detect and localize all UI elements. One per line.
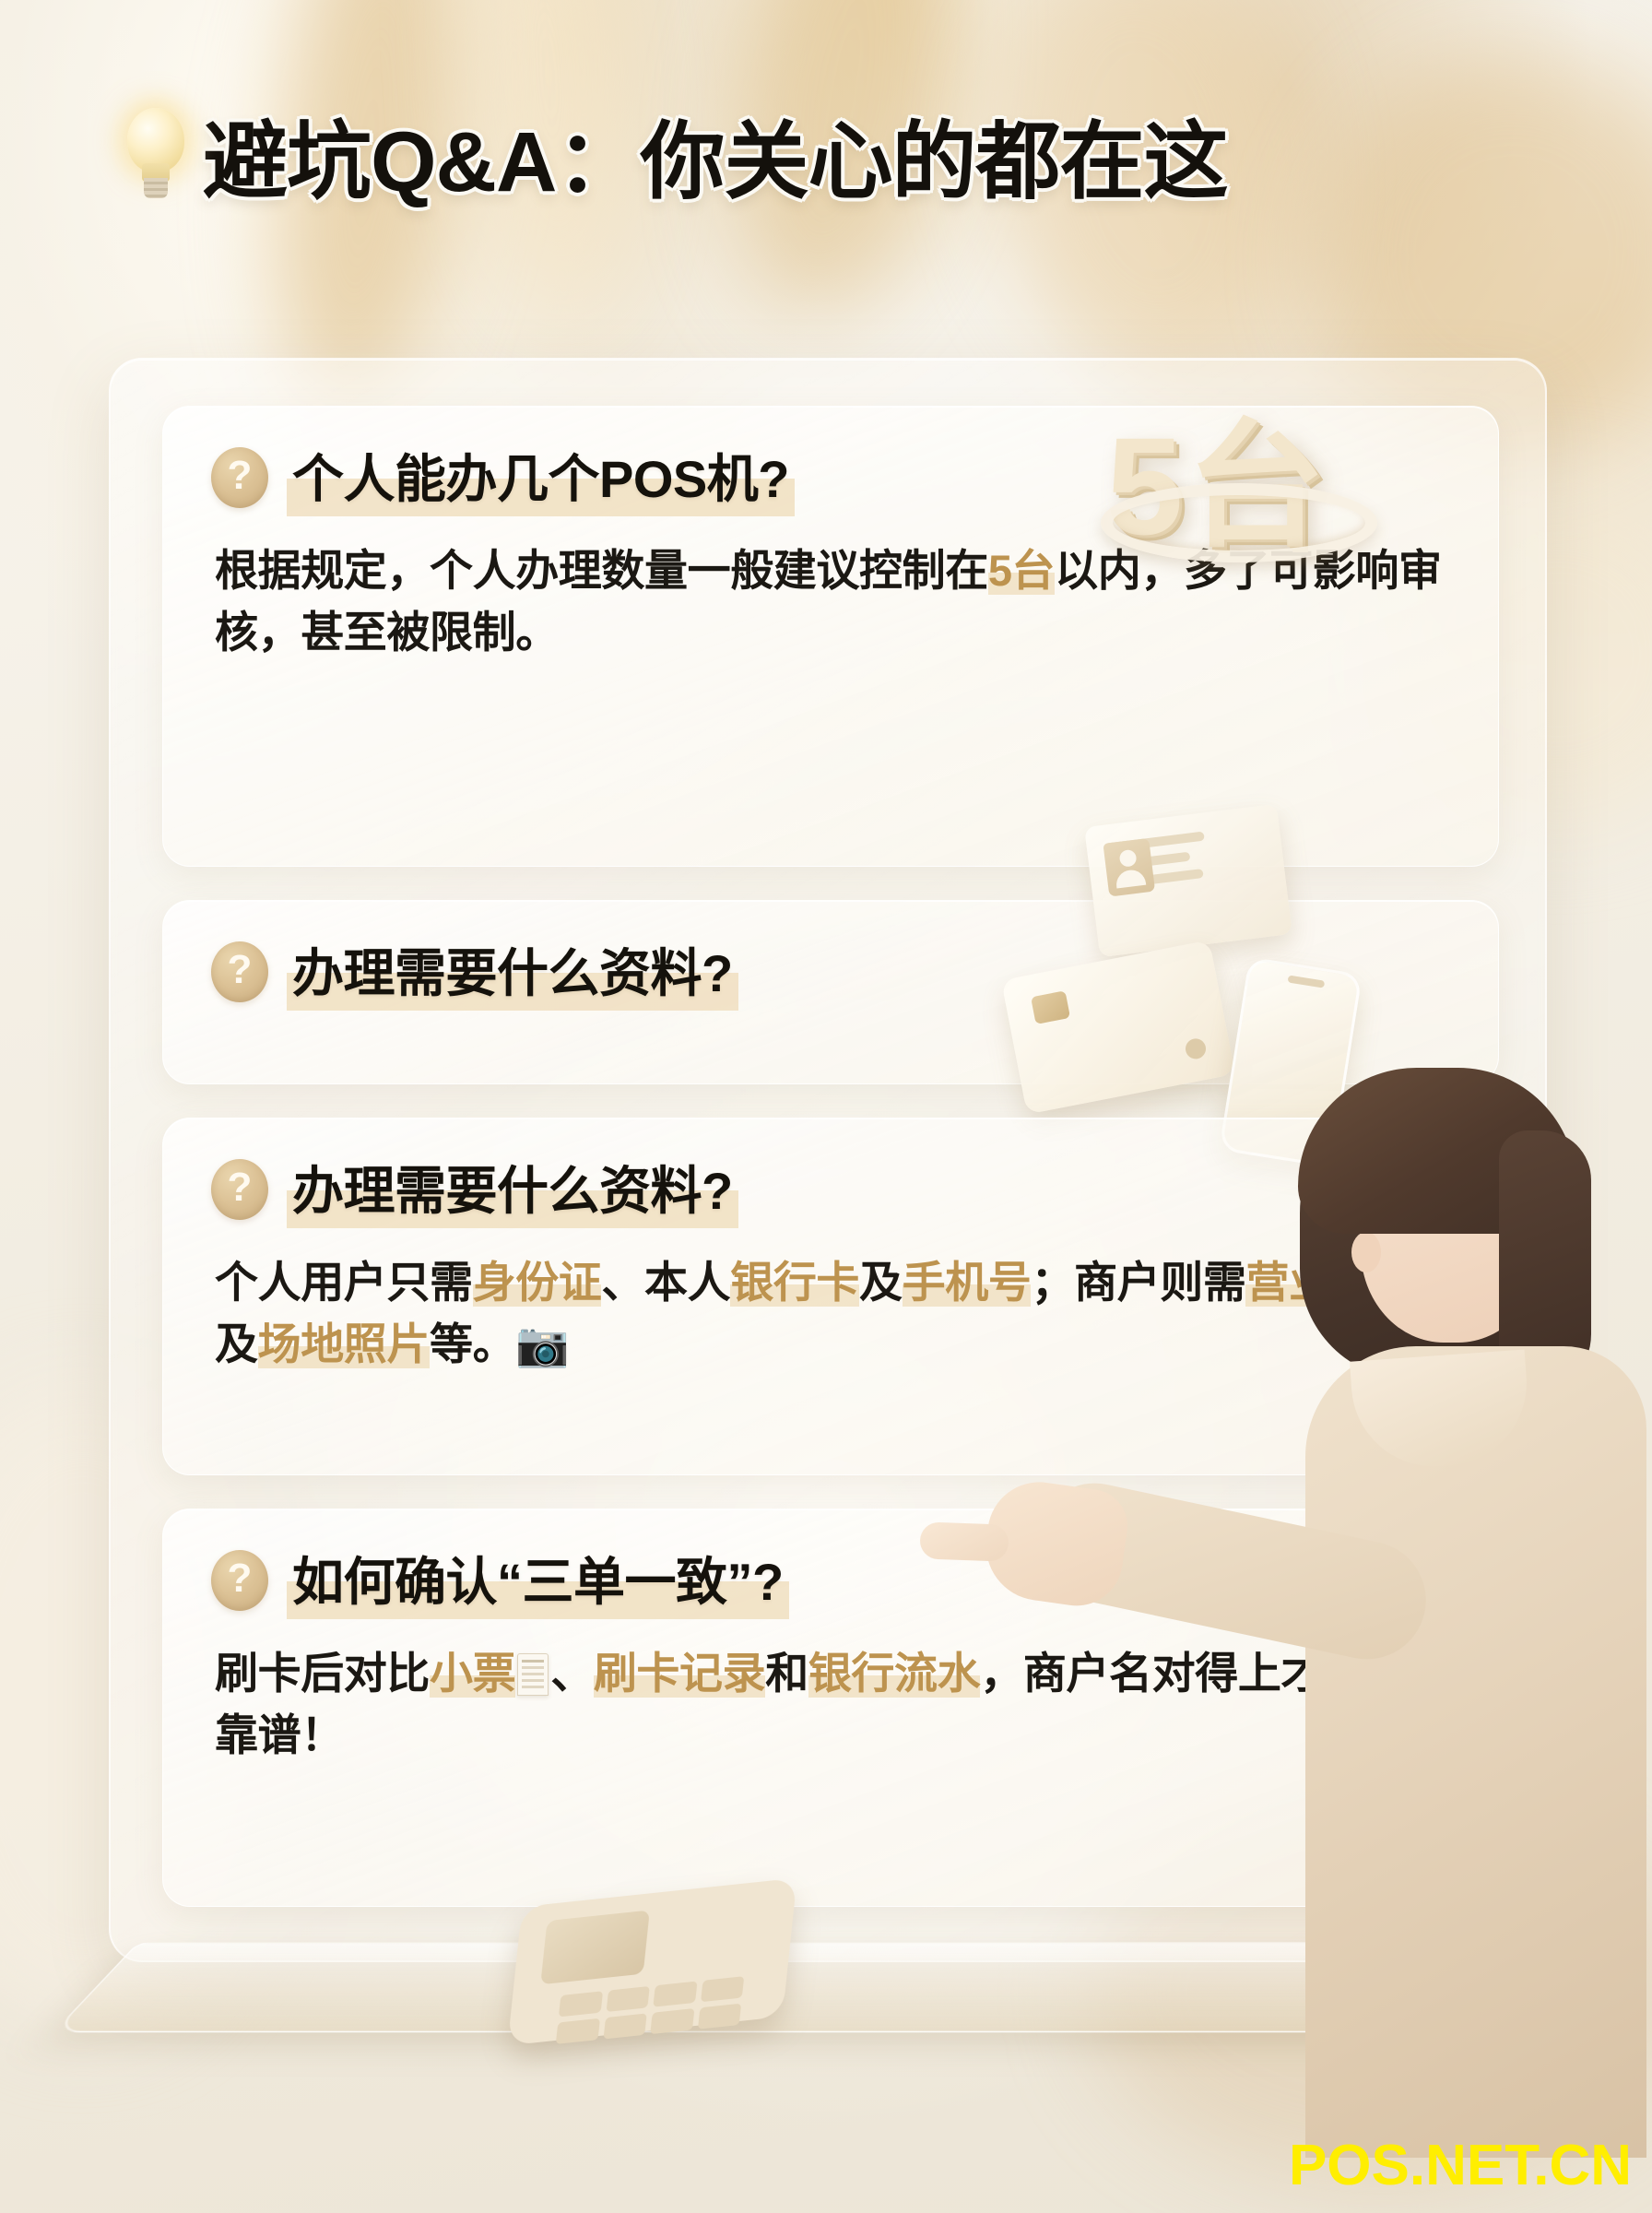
answer-text-run: 、本人 xyxy=(601,1258,730,1307)
question-mark-icon: ? xyxy=(211,941,268,1002)
question-text: 个人能办几个POS机? xyxy=(287,438,795,516)
answer-text-run: 、 xyxy=(550,1649,594,1698)
qa-card-4[interactable]: ? 如何确认“三单一致”? 刷卡后对比小票、刷卡记录和银行流水，商户名对得上才是… xyxy=(162,1509,1499,1907)
header: 避坑Q&A：你关心的都在这 xyxy=(0,103,1652,205)
answer-text-run: 和 xyxy=(765,1649,808,1698)
highlighted-keyword: 小票 xyxy=(430,1649,515,1698)
qa-card-3[interactable]: ? 办理需要什么资料? 个人用户只需身份证、本人银行卡及手机号；商户则需营业执照… xyxy=(162,1118,1499,1475)
answer-text-run: 根据规定，个人办理数量一般建议控制在 xyxy=(215,546,988,595)
qa-card-1[interactable]: ? 个人能办几个POS机? 根据规定，个人办理数量一般建议控制在5台以内，多了可… xyxy=(162,406,1499,867)
question-row: ? 个人能办几个POS机? xyxy=(163,407,1498,516)
answer-text-run: 个人用户只需 xyxy=(215,1258,473,1307)
pos-terminal-prop xyxy=(503,1840,825,2054)
question-text: 办理需要什么资料? xyxy=(287,1150,738,1228)
highlighted-keyword: 场地照片 xyxy=(258,1320,430,1368)
highlighted-keyword: 营业执照 xyxy=(1245,1258,1417,1307)
site-watermark: POS.NET.CN xyxy=(1289,2133,1632,2198)
question-mark-icon: ? xyxy=(211,1159,268,1220)
lightbulb-icon xyxy=(122,106,190,202)
answer-text-run: 及 xyxy=(859,1258,903,1307)
pos-terminal-screen xyxy=(540,1910,650,1984)
answer-text: 根据规定，个人办理数量一般建议控制在5台以内，多了可影响审核，甚至被限制。 xyxy=(163,516,1498,663)
highlighted-keyword: 5台 xyxy=(988,546,1055,595)
question-row: ? 如何确认“三单一致”? xyxy=(163,1509,1498,1619)
question-row: ? 办理需要什么资料? xyxy=(163,1118,1498,1228)
highlighted-keyword: 银行流水 xyxy=(808,1649,980,1698)
question-mark-icon: ? xyxy=(211,447,268,508)
answer-text-run: 等。📷 xyxy=(430,1320,569,1368)
poster-canvas: 避坑Q&A：你关心的都在这 ? 个人能办几个POS机? 根据规定，个人办理数量一… xyxy=(0,0,1652,2213)
answer-text: 个人用户只需身份证、本人银行卡及手机号；商户则需营业执照及场地照片等。📷 xyxy=(163,1228,1498,1375)
card-dot-icon xyxy=(1184,1037,1208,1061)
question-mark-icon: ? xyxy=(211,1550,268,1611)
answer-text: 刷卡后对比小票、刷卡记录和银行流水，商户名对得上才是真靠谱！ xyxy=(163,1619,1498,1766)
card-chip-icon xyxy=(1031,990,1070,1024)
highlighted-keyword: 手机号 xyxy=(903,1258,1032,1307)
answer-text-run: 刷卡后对比 xyxy=(215,1649,430,1698)
id-card-prop xyxy=(1084,804,1292,958)
receipt-icon xyxy=(517,1653,549,1696)
highlighted-keyword: 刷卡记录 xyxy=(594,1649,765,1698)
highlighted-keyword: 银行卡 xyxy=(730,1258,859,1307)
id-photo-icon xyxy=(1103,838,1155,897)
answer-text-run: 及 xyxy=(215,1320,258,1368)
question-text: 如何确认“三单一致”? xyxy=(287,1541,789,1619)
page-title: 避坑Q&A：你关心的都在这 xyxy=(203,93,1227,216)
question-text: 办理需要什么资料? xyxy=(287,932,738,1011)
answer-text-run: ；商户则需 xyxy=(1031,1258,1245,1307)
highlighted-keyword: 身份证 xyxy=(473,1258,602,1307)
lightbulb-base xyxy=(144,178,168,198)
